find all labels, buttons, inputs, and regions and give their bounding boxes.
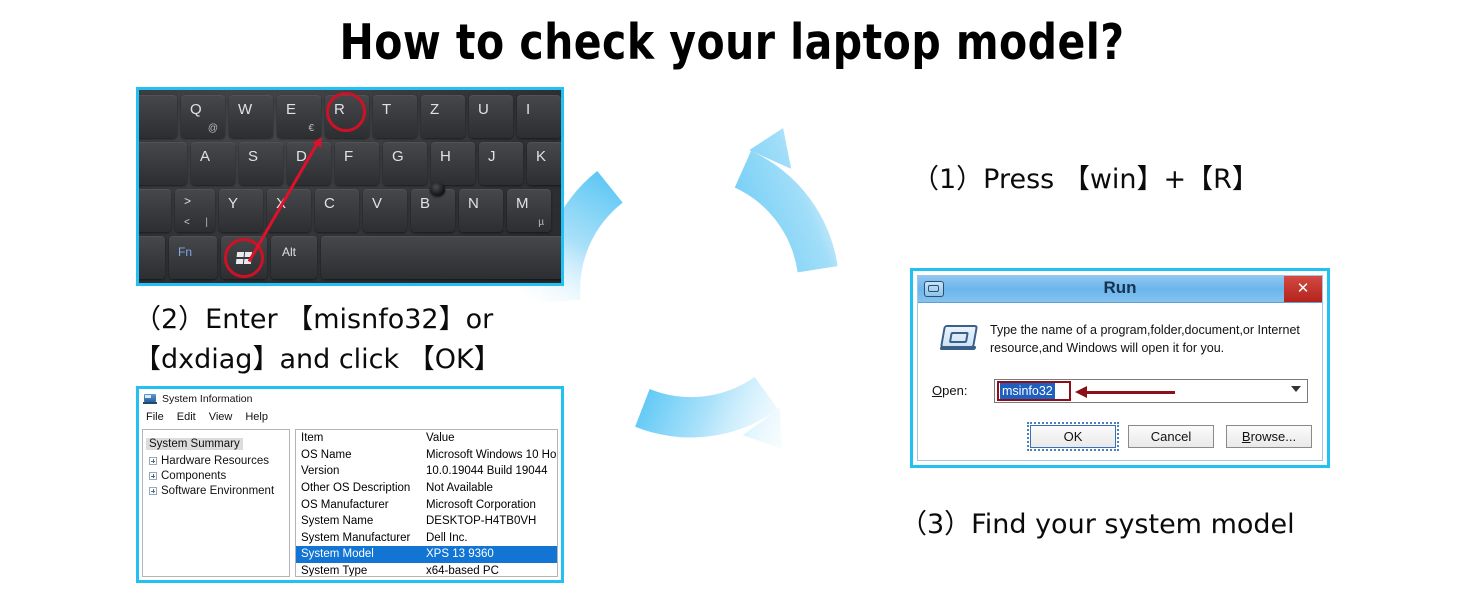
system-information-window: System Information File Edit View Help S… bbox=[136, 386, 564, 583]
key-label: W bbox=[238, 101, 252, 118]
column-header-item: Item bbox=[296, 432, 422, 444]
key-label: B bbox=[420, 195, 430, 212]
key-label: Y bbox=[228, 195, 238, 212]
key-b[interactable]: B bbox=[411, 189, 455, 232]
key-f[interactable]: F bbox=[335, 142, 379, 185]
key-label: Fn bbox=[178, 245, 192, 259]
key-u[interactable]: U bbox=[469, 95, 513, 138]
run-button-row: OK Cancel Browse... bbox=[918, 425, 1312, 448]
key-label: > bbox=[184, 194, 191, 208]
sysinfo-detail-table: Item Value OS Name Microsoft Windows 10 … bbox=[295, 429, 558, 577]
tree-item-hardware-resources[interactable]: Hardware Resources bbox=[146, 455, 286, 467]
key-m[interactable]: M µ bbox=[507, 189, 551, 232]
monitor-icon bbox=[144, 393, 157, 404]
key-row3-0[interactable] bbox=[136, 189, 171, 232]
key-label: N bbox=[468, 195, 479, 212]
table-row[interactable]: System Manufacturer Dell Inc. bbox=[296, 530, 557, 547]
tree-item-label: Components bbox=[161, 470, 226, 482]
poster-canvas: How to check your laptop model? bbox=[0, 0, 1464, 600]
row-item: OS Manufacturer bbox=[296, 499, 422, 511]
sysinfo-content: System Summary Hardware Resources Compon… bbox=[142, 429, 558, 577]
row-value: 10.0.19044 Build 19044 bbox=[422, 465, 557, 477]
column-header-value: Value bbox=[422, 432, 557, 444]
key-n[interactable]: N bbox=[459, 189, 503, 232]
key-k[interactable]: K bbox=[527, 142, 564, 185]
step-3-instruction: （3）Find your system model bbox=[900, 505, 1295, 545]
expand-plus-icon[interactable] bbox=[149, 472, 157, 480]
key-s[interactable]: S bbox=[239, 142, 283, 185]
key-label: K bbox=[536, 148, 546, 165]
row-value: Dell Inc. bbox=[422, 532, 557, 544]
key-row2-0[interactable] bbox=[136, 142, 187, 185]
page-title: How to check your laptop model? bbox=[51, 14, 1413, 71]
annotation-arrow-to-open-field bbox=[1087, 391, 1175, 394]
step-2-line-1: （2）Enter 【misnfo32】or bbox=[134, 304, 493, 335]
highlight-circle-r-key bbox=[326, 92, 366, 132]
menu-file[interactable]: File bbox=[146, 411, 164, 423]
key-label: A bbox=[200, 148, 210, 165]
key-label: G bbox=[392, 148, 404, 165]
step-2-line-2: 【dxdiag】and click 【OK】 bbox=[134, 344, 501, 375]
row-value: Not Available bbox=[422, 482, 557, 494]
tree-item-label: Software Environment bbox=[161, 485, 274, 497]
run-dialog-window: Run ✕ Type the name of a program,folder,… bbox=[910, 268, 1330, 468]
key-label: J bbox=[488, 148, 496, 165]
key-label: F bbox=[344, 148, 353, 165]
open-input-value[interactable]: msinfo32 bbox=[1000, 383, 1055, 399]
key-label: M bbox=[516, 195, 529, 212]
row-item: System Type bbox=[296, 565, 422, 577]
key-e[interactable]: E € bbox=[277, 95, 321, 138]
key-sublabel: € bbox=[308, 123, 314, 134]
row-item: Other OS Description bbox=[296, 482, 422, 494]
key-fn[interactable]: Fn bbox=[169, 236, 217, 279]
key-label: H bbox=[440, 148, 451, 165]
key-y[interactable]: Y bbox=[219, 189, 263, 232]
key-g[interactable]: G bbox=[383, 142, 427, 185]
key-q[interactable]: Q @ bbox=[181, 95, 225, 138]
table-row[interactable]: System Name DESKTOP-H4TB0VH bbox=[296, 513, 557, 530]
key-label: Q bbox=[190, 101, 202, 118]
row-item: System Manufacturer bbox=[296, 532, 422, 544]
key-v[interactable]: V bbox=[363, 189, 407, 232]
key-sublabel: | bbox=[205, 217, 208, 228]
row-value: Microsoft Corporation bbox=[422, 499, 557, 511]
key-a[interactable]: A bbox=[191, 142, 235, 185]
sysinfo-window-title: System Information bbox=[162, 393, 252, 405]
row-value: Microsoft Windows 10 Home bbox=[422, 449, 557, 461]
key-c[interactable]: C bbox=[315, 189, 359, 232]
key-label: C bbox=[324, 195, 335, 212]
key-j[interactable]: J bbox=[479, 142, 523, 185]
trackpoint-nub[interactable] bbox=[430, 183, 445, 196]
run-dialog-title: Run bbox=[918, 278, 1322, 298]
run-dialog-body: Type the name of a program,folder,docume… bbox=[918, 303, 1322, 460]
key-label: V bbox=[372, 195, 382, 212]
key-label: U bbox=[478, 101, 489, 118]
row-item: Version bbox=[296, 465, 422, 477]
sysinfo-tree-panel: System Summary Hardware Resources Compon… bbox=[142, 429, 290, 577]
open-combobox[interactable]: msinfo32 bbox=[994, 379, 1308, 403]
run-titlebar[interactable]: Run ✕ bbox=[918, 276, 1322, 303]
cycle-arrow-left bbox=[622, 334, 800, 470]
key-t[interactable]: T bbox=[373, 95, 417, 138]
table-row-selected-system-model[interactable]: System Model XPS 13 9360 bbox=[296, 546, 557, 563]
chevron-down-icon[interactable] bbox=[1291, 386, 1301, 392]
ok-button[interactable]: OK bbox=[1030, 425, 1116, 448]
run-description-text: Type the name of a program,folder,docume… bbox=[990, 321, 1308, 357]
key-label: Z bbox=[430, 101, 439, 118]
menu-view[interactable]: View bbox=[209, 411, 233, 423]
browse-button-rest: rowse... bbox=[1251, 429, 1297, 444]
key-sublabel: µ bbox=[538, 217, 544, 228]
table-row[interactable]: OS Name Microsoft Windows 10 Home bbox=[296, 447, 557, 464]
row-item: System Model bbox=[296, 548, 422, 560]
key-row4-0[interactable] bbox=[136, 236, 165, 279]
key-sublabel: @ bbox=[208, 123, 218, 134]
row-item: System Name bbox=[296, 515, 422, 527]
key-label: T bbox=[382, 101, 391, 118]
open-field-label: Open: bbox=[932, 383, 967, 398]
tree-item-components[interactable]: Components bbox=[146, 470, 286, 482]
cycle-arrows-graphic bbox=[520, 110, 860, 470]
menu-help[interactable]: Help bbox=[245, 411, 268, 423]
cycle-arrow-top bbox=[712, 119, 860, 286]
key-row1-0[interactable] bbox=[136, 95, 177, 138]
keyboard-photo: Q @ W E € R T Z U I A S bbox=[136, 87, 564, 286]
key-label2: < bbox=[184, 217, 190, 228]
key-w[interactable]: W bbox=[229, 95, 273, 138]
key-label: E bbox=[286, 101, 296, 118]
key-less-greater[interactable]: > < | bbox=[175, 189, 215, 232]
step-2-instruction: （2）Enter 【misnfo32】or 【dxdiag】and click … bbox=[134, 300, 501, 380]
table-row[interactable]: OS Manufacturer Microsoft Corporation bbox=[296, 496, 557, 513]
sysinfo-menubar: File Edit View Help bbox=[139, 408, 561, 426]
expand-plus-icon[interactable] bbox=[149, 487, 157, 495]
run-open-row: Open: msinfo32 bbox=[932, 379, 1308, 405]
open-value-highlight-box: msinfo32 bbox=[997, 381, 1071, 401]
tree-item-label: Hardware Resources bbox=[161, 455, 269, 467]
key-z[interactable]: Z bbox=[421, 95, 465, 138]
cancel-button[interactable]: Cancel bbox=[1128, 425, 1214, 448]
key-space[interactable] bbox=[321, 236, 564, 279]
key-i[interactable]: I bbox=[517, 95, 561, 138]
key-label: S bbox=[248, 148, 258, 165]
table-header-row: Item Value bbox=[296, 430, 557, 447]
run-dialog-inner: Run ✕ Type the name of a program,folder,… bbox=[917, 275, 1323, 461]
run-description-icon bbox=[940, 325, 976, 351]
key-label: I bbox=[526, 101, 530, 118]
table-row[interactable]: Other OS Description Not Available bbox=[296, 480, 557, 497]
row-value: DESKTOP-H4TB0VH bbox=[422, 515, 557, 527]
tree-item-system-summary[interactable]: System Summary bbox=[146, 438, 243, 450]
key-alt[interactable]: Alt bbox=[271, 236, 317, 279]
sysinfo-titlebar[interactable]: System Information bbox=[139, 389, 561, 408]
table-row[interactable]: System Type x64-based PC bbox=[296, 563, 557, 577]
key-label: Alt bbox=[282, 245, 296, 259]
row-value: x64-based PC bbox=[422, 565, 557, 577]
step-1-instruction: （1）Press 【win】+【R】 bbox=[912, 160, 1259, 200]
key-h[interactable]: H bbox=[431, 142, 475, 185]
row-item: OS Name bbox=[296, 449, 422, 461]
expand-plus-icon[interactable] bbox=[149, 457, 157, 465]
menu-edit[interactable]: Edit bbox=[177, 411, 196, 423]
row-value: XPS 13 9360 bbox=[422, 548, 557, 560]
close-icon[interactable]: ✕ bbox=[1284, 276, 1322, 302]
key-x[interactable]: X bbox=[267, 189, 311, 232]
tree-item-software-environment[interactable]: Software Environment bbox=[146, 485, 286, 497]
table-row[interactable]: Version 10.0.19044 Build 19044 bbox=[296, 463, 557, 480]
browse-button[interactable]: Browse... bbox=[1226, 425, 1312, 448]
